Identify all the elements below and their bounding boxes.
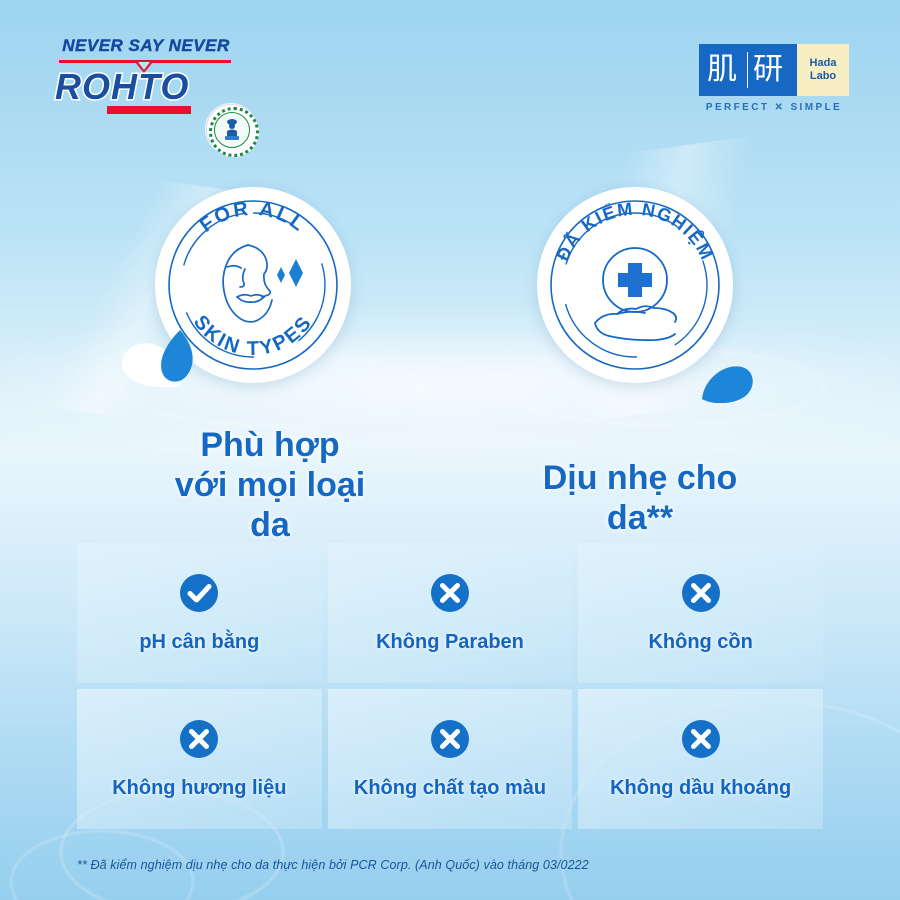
feature-label: Không hương liệu [112, 777, 286, 800]
infographic-page: NEVER SAY NEVER ROHTO 肌 研 [0, 0, 900, 900]
svg-text:ĐÃ KIỂM NGHIỆM: ĐÃ KIỂM NGHIỆM [553, 199, 718, 264]
kanji-labo: 研 [753, 51, 783, 89]
badge-caption-left: Phù hợp với mọi loại da [160, 425, 380, 545]
water-droplet-blue-icon [700, 363, 756, 403]
svg-text:SKIN TYPES: SKIN TYPES [189, 311, 317, 360]
feature-cell-khong-con: Không cồn [578, 543, 823, 683]
hada-labo-kanji-box: 肌 研 [699, 44, 797, 96]
kanji-hada: 肌 [707, 51, 737, 89]
rohto-certification-seal-icon [206, 104, 256, 154]
feature-label: pH cân bằng [139, 631, 259, 654]
hada-labo-name-line-1: Hada [810, 57, 837, 70]
feature-cell-khong-paraben: Không Paraben [328, 543, 573, 683]
rohto-red-bar [107, 106, 191, 114]
feature-cell-khong-dau-khoang: Không dầu khoáng [578, 689, 823, 829]
svg-text:FOR ALL: FOR ALL [196, 198, 310, 237]
badge-caption-left-line-2: với mọi loại da [160, 465, 380, 545]
hada-labo-name-line-2: Labo [810, 70, 836, 83]
water-droplet-blue-icon [160, 328, 196, 386]
x-circle-icon [179, 719, 219, 759]
badge-caption-right-line-1: Dịu nhẹ cho da** [520, 458, 760, 538]
hada-labo-logo: 肌 研 Hada Labo PERFECT ✕ SIMPLE [699, 44, 849, 124]
badge-arc-bottom-text: SKIN TYPES [189, 311, 317, 360]
badge-arc-top-text: ĐÃ KIỂM NGHIỆM [553, 199, 718, 264]
feature-label: Không chất tạo màu [354, 777, 546, 800]
kanji-divider [747, 52, 748, 88]
x-circle-icon [430, 573, 470, 613]
feature-label: Không dầu khoáng [610, 777, 791, 800]
badge-caption-left-line-1: Phù hợp [160, 425, 380, 465]
footnote-text: ** Đã kiểm nghiệm dịu nhẹ cho da thực hi… [77, 858, 589, 872]
feature-grid: pH cân bằng Không Paraben Không cồn [77, 543, 823, 829]
hada-labo-name-box: Hada Labo [797, 44, 849, 96]
badge-arc-top-text: FOR ALL [196, 198, 310, 237]
feature-label: Không cồn [648, 631, 752, 654]
feature-cell-ph-can-bang: pH cân bằng [77, 543, 322, 683]
feature-label: Không Paraben [376, 631, 524, 654]
x-circle-icon [681, 573, 721, 613]
hada-labo-tagline: PERFECT ✕ SIMPLE [699, 102, 849, 113]
badge-caption-right: Dịu nhẹ cho da** [520, 458, 760, 538]
rohto-wordmark: ROHTO [55, 66, 235, 108]
rohto-logo: NEVER SAY NEVER ROHTO [47, 36, 267, 122]
water-ripple-decoration [0, 300, 900, 480]
badge-da-kiem-nghiem: ĐÃ KIỂM NGHIỆM [537, 187, 733, 383]
x-circle-icon [681, 719, 721, 759]
x-circle-icon [430, 719, 470, 759]
feature-cell-khong-huong-lieu: Không hương liệu [77, 689, 322, 829]
rohto-tagline: NEVER SAY NEVER [61, 36, 231, 56]
feature-cell-khong-chat-tao-mau: Không chất tạo màu [328, 689, 573, 829]
check-circle-icon [179, 573, 219, 613]
badge-da-kiem-nghiem-graphic: ĐÃ KIỂM NGHIỆM [537, 187, 733, 383]
